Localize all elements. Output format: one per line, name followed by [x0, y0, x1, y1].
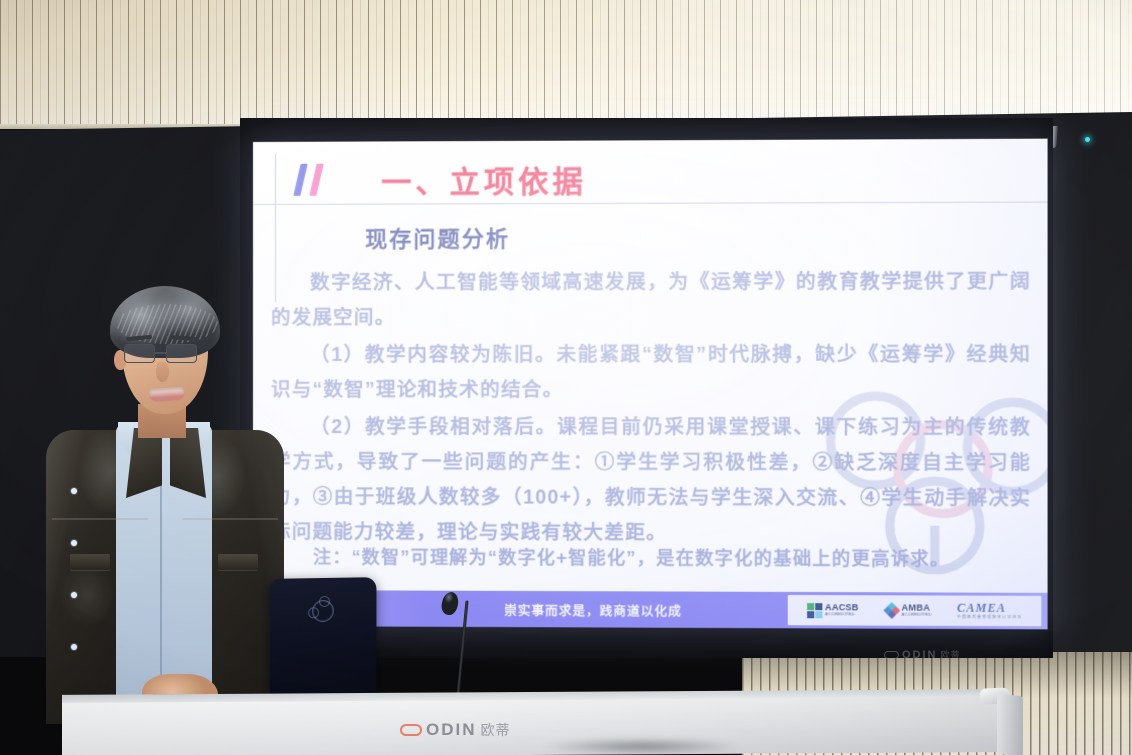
shirt-button: [71, 644, 77, 650]
status-led-icon: [1085, 137, 1090, 142]
slide-frame-horizontal-line: [253, 202, 1048, 205]
jacket-pocket-right: [218, 554, 258, 570]
shirt-button: [71, 488, 77, 494]
lecture-hall-scene: 一、立项依据 现存问题分析 数字经济、人工智能等领域高速发展，为《运筹学》的教育…: [0, 0, 1132, 755]
camea-label: CAMEA: [957, 602, 1022, 614]
jacket-seam: [182, 518, 278, 520]
slide-paragraph: （2）教学手段相对落后。课程目前仍采用课堂授课、课下练习为主的传统教学方式，导致…: [271, 410, 1031, 552]
title-slash-marks-icon: [293, 164, 331, 196]
jacket-pocket-left: [70, 554, 110, 570]
camea-sub: 中国高质量管理教育认证体系: [957, 616, 1022, 620]
slide-paragraph: 数字经济、人工智能等领域高速发展，为《运筹学》的教育教学提供了更广阔的发展空间。: [271, 264, 1031, 336]
university-emblem-icon: [312, 600, 334, 623]
nose: [156, 362, 169, 382]
aacsb-logo: AACSB ACCREDITED: [807, 603, 859, 618]
odin-oval-icon: [400, 724, 422, 736]
aacsb-mark-icon: [807, 603, 822, 618]
amba-logo: AMBA ACCREDITED: [884, 603, 931, 617]
shirt-button: [71, 540, 77, 546]
presentation-slide[interactable]: 一、立项依据 现存问题分析 数字经济、人工智能等领域高速发展，为《运筹学》的教育…: [253, 139, 1048, 630]
display-brand-cn: 欧蒂: [941, 648, 961, 661]
aacsb-sub: ACCREDITED: [825, 613, 859, 617]
amba-diamond-icon: [884, 603, 898, 617]
display-brand-text: ODIN: [902, 649, 938, 661]
display-brand-logo: ODIN 欧蒂: [884, 648, 961, 661]
odin-oval-icon: [884, 651, 899, 659]
slide-paragraph: （1）教学内容较为陈旧。未能紧跟“数智”时代脉搏，缺少《运筹学》经典知识与“数智…: [271, 337, 1031, 408]
presenter-figure: [30, 272, 290, 722]
slide-subtitle: 现存问题分析: [365, 221, 510, 253]
wood-slat-wall-upper: [0, 0, 1132, 128]
slide-note: 注：“数智”可理解为“数字化+智能化”，是在数字化的基础上的更高诉求。: [313, 542, 1043, 574]
lectern-brand-logo: ODIN 欧蒂: [400, 720, 511, 740]
lectern-shadow: [542, 738, 742, 755]
podium-control-monitor[interactable]: [270, 577, 377, 699]
lectern: ODIN 欧蒂: [62, 692, 1062, 755]
amba-sub: ACCREDITED: [902, 613, 932, 617]
shirt-button: [71, 592, 77, 598]
lectern-side-face: [997, 694, 1023, 755]
slide-body-text: 数字经济、人工智能等领域高速发展，为《运筹学》的教育教学提供了更广阔的发展空间。…: [271, 264, 1031, 554]
slide-footer-slogan: 崇实事而求是，践商道以化成: [444, 599, 788, 619]
camea-logo: CAMEA 中国高质量管理教育认证体系: [957, 602, 1022, 620]
lectern-front-face: [62, 697, 1002, 755]
lectern-brand-text: ODIN: [426, 720, 477, 740]
accreditation-logos: AACSB ACCREDITED AMBA ACCREDITED CAMEA 中…: [788, 595, 1042, 626]
lectern-brand-cn: 欧蒂: [481, 720, 511, 740]
slide-title: 一、立项依据: [381, 157, 587, 202]
jacket-seam: [52, 518, 148, 520]
